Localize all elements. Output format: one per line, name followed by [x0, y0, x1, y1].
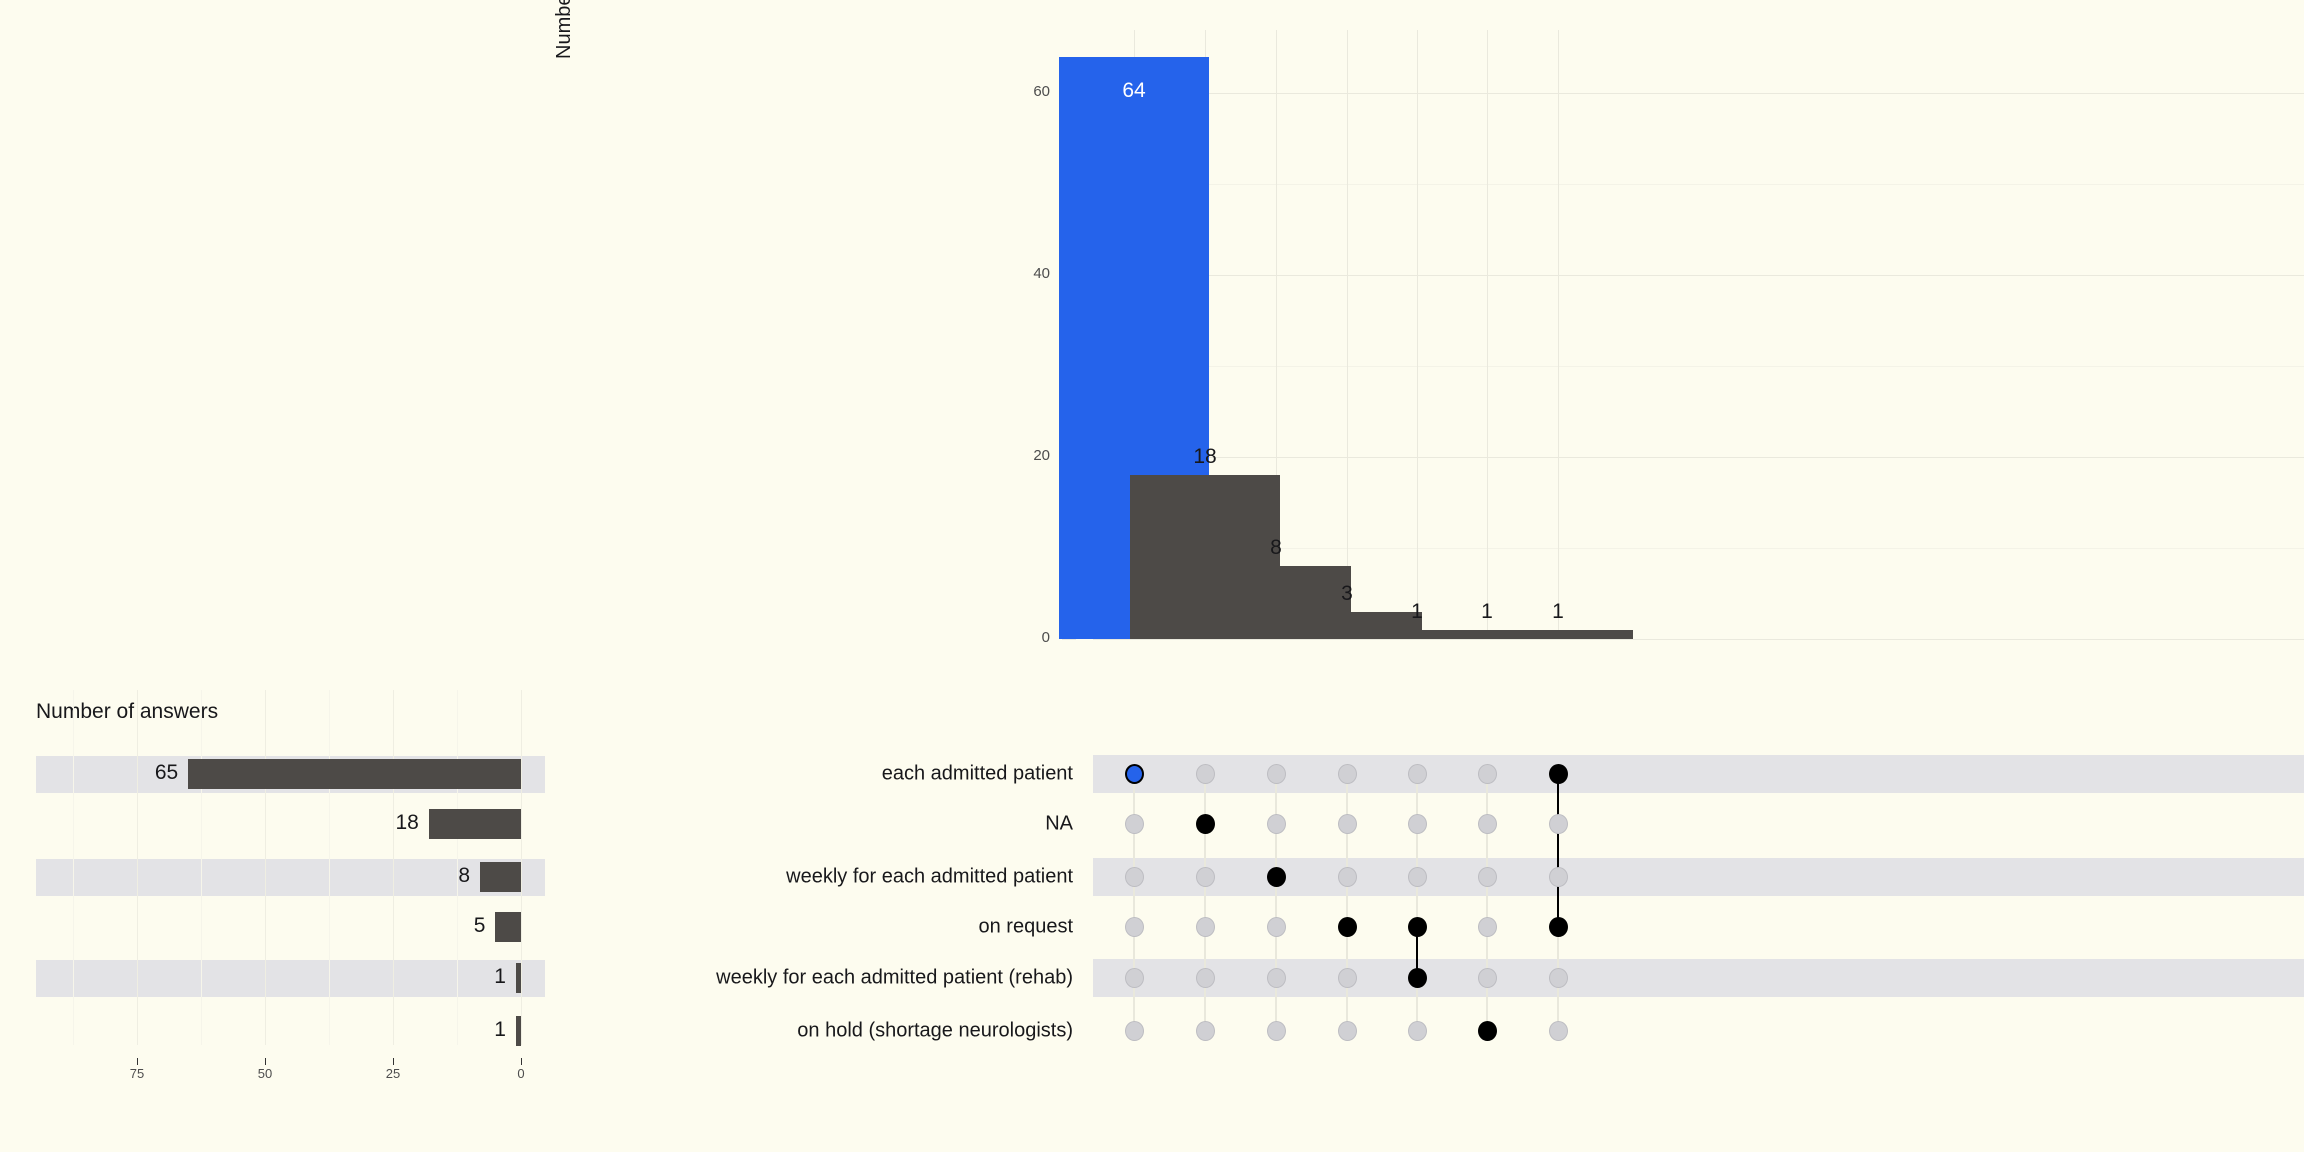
gridline-horizontal	[1093, 93, 2304, 94]
y-axis-tick-mark	[1062, 639, 1076, 640]
set-size-bar[interactable]	[516, 1016, 521, 1046]
x-axis-tick-mark	[265, 1058, 266, 1065]
set-size-bar[interactable]	[429, 809, 521, 839]
y-axis-tick-label: 0	[1010, 629, 1050, 646]
matrix-dot-active[interactable]	[1408, 968, 1427, 988]
intersection-bar-value-label: 1	[1498, 600, 1618, 624]
matrix-row-label[interactable]: weekly for each admitted patient (rehab)	[716, 967, 1073, 990]
gridline-horizontal	[1093, 184, 2304, 185]
y-axis-tick-label: 60	[1010, 83, 1050, 100]
matrix-dot-inactive[interactable]	[1125, 1021, 1144, 1041]
intersection-size-chart: 0204060641883111	[1093, 30, 2304, 640]
gridline-vertical	[1417, 30, 1418, 640]
matrix-dot-inactive[interactable]	[1478, 917, 1497, 937]
matrix-column-guide	[1486, 764, 1488, 1041]
matrix-dot-inactive[interactable]	[1196, 1021, 1215, 1041]
matrix-dot-inactive[interactable]	[1549, 867, 1568, 887]
matrix-row-label[interactable]: each admitted patient	[882, 763, 1073, 786]
x-axis-tick-mark	[393, 1058, 394, 1065]
matrix-dot-inactive[interactable]	[1125, 867, 1144, 887]
matrix-column-guide	[1416, 764, 1418, 1041]
gridline-horizontal	[1093, 639, 2304, 640]
matrix-dot-inactive[interactable]	[1478, 867, 1497, 887]
matrix-column-guide	[1133, 764, 1135, 1041]
gridline-horizontal	[1093, 366, 2304, 367]
x-axis-tick-mark	[521, 1058, 522, 1065]
matrix-dot-inactive[interactable]	[1196, 968, 1215, 988]
matrix-dot-inactive[interactable]	[1408, 814, 1427, 834]
matrix-dot-inactive[interactable]	[1125, 968, 1144, 988]
matrix-column-guide	[1204, 764, 1206, 1041]
set-size-gridline	[201, 690, 202, 1045]
intersection-bar-value-label: 8	[1216, 536, 1336, 560]
set-size-bar[interactable]	[188, 759, 521, 789]
x-axis-tick-label: 25	[373, 1066, 413, 1081]
set-size-value-label: 18	[219, 811, 419, 835]
matrix-dot-active[interactable]	[1196, 814, 1215, 834]
x-axis-tick-label: 75	[117, 1066, 157, 1081]
matrix-dot-active[interactable]	[1267, 867, 1286, 887]
matrix-dot-inactive[interactable]	[1267, 968, 1286, 988]
set-size-bar[interactable]	[495, 912, 521, 942]
set-size-value-label: 1	[306, 1018, 506, 1042]
matrix-dot-inactive[interactable]	[1196, 764, 1215, 784]
matrix-dot-inactive[interactable]	[1125, 814, 1144, 834]
set-size-gridline	[265, 690, 266, 1045]
matrix-dot-active[interactable]	[1549, 917, 1568, 937]
matrix-dot-inactive[interactable]	[1549, 968, 1568, 988]
x-axis-tick-label: 50	[245, 1066, 285, 1081]
set-size-gridline	[521, 690, 522, 1045]
matrix-dot-active[interactable]	[1478, 1021, 1497, 1041]
matrix-dot-active[interactable]	[1125, 764, 1144, 784]
set-size-value-label: 1	[306, 965, 506, 989]
set-size-value-label: 8	[270, 864, 470, 888]
matrix-dot-inactive[interactable]	[1408, 764, 1427, 784]
matrix-row-label[interactable]: weekly for each admitted patient	[786, 866, 1073, 889]
matrix-dot-inactive[interactable]	[1408, 1021, 1427, 1041]
matrix-dot-inactive[interactable]	[1408, 867, 1427, 887]
matrix-dot-inactive[interactable]	[1478, 968, 1497, 988]
gridline-vertical	[1347, 30, 1348, 640]
gridline-vertical	[1487, 30, 1488, 640]
matrix-dot-inactive[interactable]	[1196, 867, 1215, 887]
set-size-gridline	[137, 690, 138, 1045]
y-axis-tick-label: 40	[1010, 265, 1050, 282]
matrix-dot-inactive[interactable]	[1267, 814, 1286, 834]
matrix-dot-inactive[interactable]	[1125, 917, 1144, 937]
set-size-bar[interactable]	[516, 963, 521, 993]
intersection-matrix: each admitted patientNAweekly for each a…	[1093, 748, 2304, 1058]
x-axis-tick-label: 0	[501, 1066, 541, 1081]
matrix-dot-inactive[interactable]	[1549, 1021, 1568, 1041]
set-size-value-label: 65	[0, 761, 178, 785]
matrix-row-label[interactable]: on request	[978, 916, 1073, 939]
intersection-bar[interactable]	[1483, 630, 1633, 639]
matrix-dot-inactive[interactable]	[1478, 764, 1497, 784]
matrix-dot-inactive[interactable]	[1549, 814, 1568, 834]
matrix-dot-inactive[interactable]	[1267, 917, 1286, 937]
matrix-dot-inactive[interactable]	[1338, 968, 1357, 988]
set-size-chart: 651885117550250	[0, 690, 580, 1090]
matrix-dot-inactive[interactable]	[1338, 867, 1357, 887]
matrix-dot-inactive[interactable]	[1338, 814, 1357, 834]
gridline-horizontal	[1093, 457, 2304, 458]
matrix-dot-inactive[interactable]	[1338, 764, 1357, 784]
matrix-dot-active[interactable]	[1338, 917, 1357, 937]
matrix-dot-inactive[interactable]	[1478, 814, 1497, 834]
intersection-bar-value-label: 64	[1074, 79, 1194, 103]
x-axis-tick-mark	[137, 1058, 138, 1065]
matrix-dot-inactive[interactable]	[1338, 1021, 1357, 1041]
matrix-row-label[interactable]: NA	[1045, 813, 1073, 836]
set-size-bar[interactable]	[480, 862, 521, 892]
matrix-column-guide	[1346, 764, 1348, 1041]
matrix-dot-inactive[interactable]	[1196, 917, 1215, 937]
matrix-dot-active[interactable]	[1549, 764, 1568, 784]
set-size-gridline	[73, 690, 74, 1045]
y-axis-label: Number of hospitals	[553, 0, 576, 130]
gridline-horizontal	[1093, 275, 2304, 276]
matrix-dot-active[interactable]	[1408, 917, 1427, 937]
matrix-row-label[interactable]: on hold (shortage neurologists)	[797, 1020, 1073, 1043]
y-axis-tick-label: 20	[1010, 447, 1050, 464]
matrix-connector-line	[1557, 774, 1560, 927]
intersection-bar-value-label: 18	[1145, 445, 1265, 469]
matrix-column-guide	[1275, 764, 1277, 1041]
upset-plot-figure: 0204060641883111 Number of hospitals Num…	[0, 0, 2304, 1152]
gridline-vertical	[1558, 30, 1559, 640]
set-size-value-label: 5	[285, 914, 485, 938]
matrix-dot-inactive[interactable]	[1267, 764, 1286, 784]
matrix-dot-inactive[interactable]	[1267, 1021, 1286, 1041]
